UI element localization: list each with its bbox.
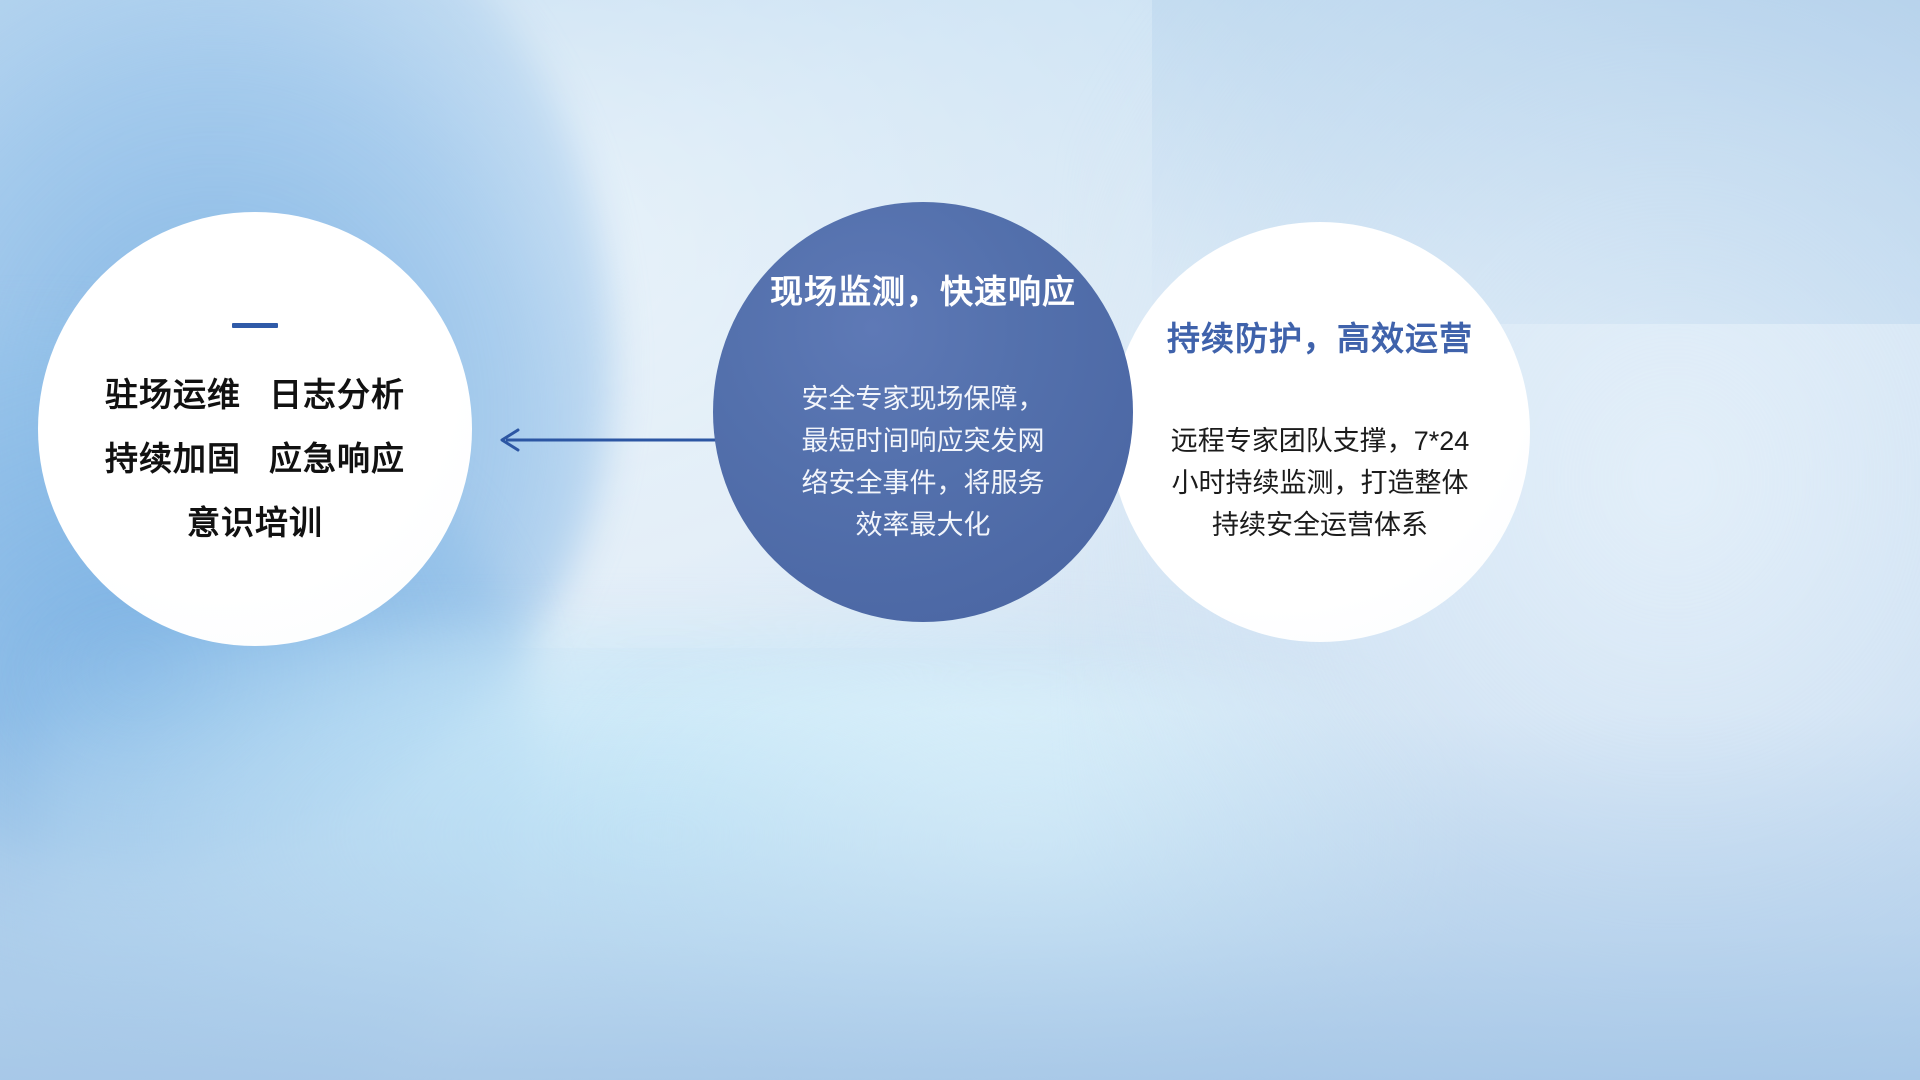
keyword-row: 驻场运维 日志分析 (105, 378, 405, 411)
center-circle-content: 现场监测，快速响应 安全专家现场保障， 最短时间响应突发网 络安全事件，将服务 … (713, 277, 1133, 546)
right-feature-circle: 持续防护，高效运营 远程专家团队支撑，7*24 小时持续监测，打造整体 持续安全… (1110, 222, 1530, 642)
body-line: 最短时间响应突发网 (773, 421, 1073, 463)
body-line: 小时持续监测，打造整体 (1137, 462, 1503, 504)
keyword-row: 意识培训 (187, 506, 323, 539)
background-bottom-shade (0, 713, 1920, 1080)
body-line: 效率最大化 (773, 505, 1073, 547)
body-line: 安全专家现场保障， (773, 379, 1073, 421)
connector-arrow-icon (488, 414, 728, 466)
keyword-item: 应急响应 (269, 442, 405, 475)
body-line: 远程专家团队支撑，7*24 (1137, 420, 1503, 462)
center-circle-heading: 现场监测，快速响应 (770, 265, 1076, 313)
right-circle-heading: 持续防护，高效运营 (1167, 312, 1473, 360)
keyword-item: 驻场运维 (105, 378, 241, 411)
keyword-row: 持续加固 应急响应 (105, 442, 405, 475)
center-feature-circle: 现场监测，快速响应 安全专家现场保障， 最短时间响应突发网 络安全事件，将服务 … (713, 202, 1133, 622)
keyword-item: 日志分析 (269, 378, 405, 411)
keyword-item: 持续加固 (105, 442, 241, 475)
center-circle-body: 安全专家现场保障， 最短时间响应突发网 络安全事件，将服务 效率最大化 (773, 379, 1073, 546)
left-keyword-circle: 驻场运维 日志分析 持续加固 应急响应 意识培训 (38, 212, 472, 646)
slide-canvas: 驻场运维 日志分析 持续加固 应急响应 意识培训 持续防护，高效运营 远程专家团… (0, 0, 1920, 1080)
keyword-item: 意识培训 (187, 506, 323, 539)
body-line: 络安全事件，将服务 (773, 463, 1073, 505)
body-line: 持续安全运营体系 (1137, 504, 1503, 546)
divider-dash-icon (232, 323, 278, 328)
left-circle-content: 驻场运维 日志分析 持续加固 应急响应 意识培训 (38, 319, 472, 539)
right-circle-content: 持续防护，高效运营 远程专家团队支撑，7*24 小时持续监测，打造整体 持续安全… (1110, 318, 1530, 546)
right-circle-body: 远程专家团队支撑，7*24 小时持续监测，打造整体 持续安全运营体系 (1137, 420, 1503, 546)
